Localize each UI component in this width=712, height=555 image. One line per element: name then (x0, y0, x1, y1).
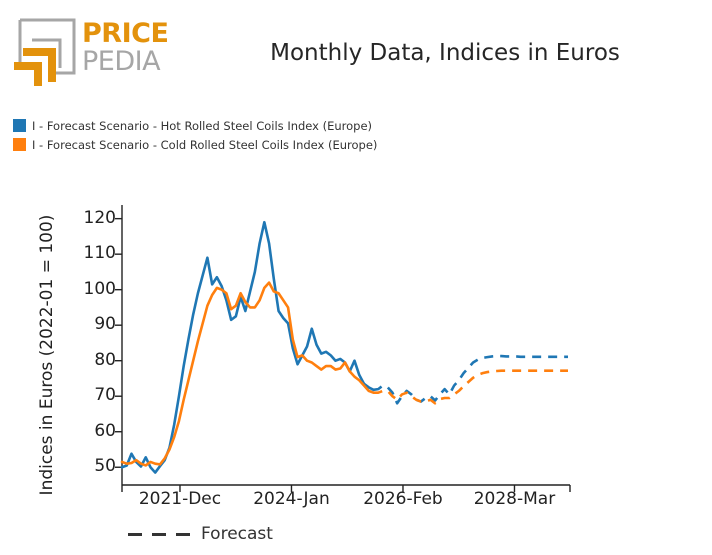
chart-series (122, 222, 568, 472)
y-tick-70: 70 (72, 387, 116, 404)
y-tick-120: 120 (72, 210, 116, 227)
series-line-history-1 (122, 283, 373, 466)
y-tick-50: 50 (72, 458, 116, 475)
forecast-legend: Forecast (128, 524, 273, 544)
forecast-legend-label: Forecast (201, 524, 273, 544)
series-line-history-0 (122, 222, 373, 472)
y-tick-100: 100 (72, 281, 116, 298)
y-tick-60: 60 (72, 423, 116, 440)
y-axis-title: Indices in Euros (2022-01 = 100) (37, 205, 57, 505)
chart-axes (115, 205, 570, 492)
y-tick-90: 90 (72, 316, 116, 333)
x-tick-2028-mar: 2028-Mar (434, 489, 594, 509)
series-line-forecast-1 (373, 371, 568, 404)
forecast-dash-sample (128, 533, 190, 536)
y-axis-tick-labels: 5060708090100110120 (66, 0, 116, 555)
y-tick-80: 80 (72, 352, 116, 369)
chart-page: PRICE PEDIA Monthly Data, Indices in Eur… (0, 0, 712, 555)
y-tick-110: 110 (72, 245, 116, 262)
